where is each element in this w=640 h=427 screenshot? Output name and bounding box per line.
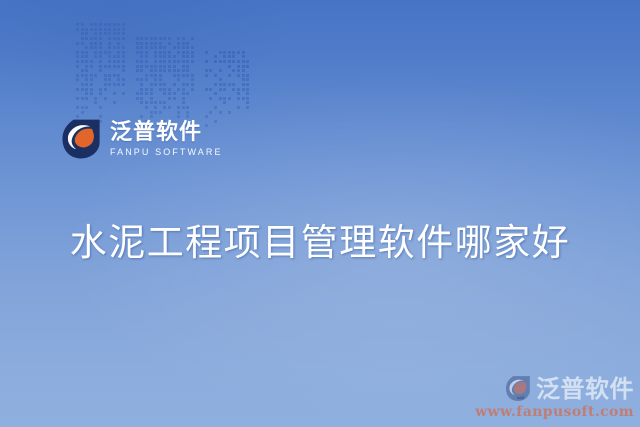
watermark-brand-row: 泛普软件 — [475, 375, 634, 402]
tower-center — [136, 37, 196, 129]
brand-name-en: FANPU SOFTWARE — [110, 148, 223, 157]
brand-logo: 泛普软件 FANPU SOFTWARE — [61, 118, 223, 160]
brand-wordmark: 泛普软件 FANPU SOFTWARE — [110, 122, 223, 157]
fanpu-hexagon-logo-mark — [505, 375, 532, 402]
watermark-url: www.fanpusoft.com — [475, 405, 634, 419]
pixel-building-skyline — [76, 34, 211, 129]
banner-headline: 水泥工程项目管理软件哪家好 — [0, 212, 640, 266]
brand-name-cn: 泛普软件 — [110, 122, 223, 144]
tower-left — [76, 23, 127, 129]
watermark-brand-cn: 泛普软件 — [536, 377, 634, 401]
banner-canvas: 泛普软件 FANPU SOFTWARE 水泥工程项目管理软件哪家好 泛普软件 w… — [0, 0, 640, 427]
fanpu-hexagon-logo-mark — [61, 118, 103, 160]
site-watermark: 泛普软件 www.fanpusoft.com — [475, 375, 634, 419]
